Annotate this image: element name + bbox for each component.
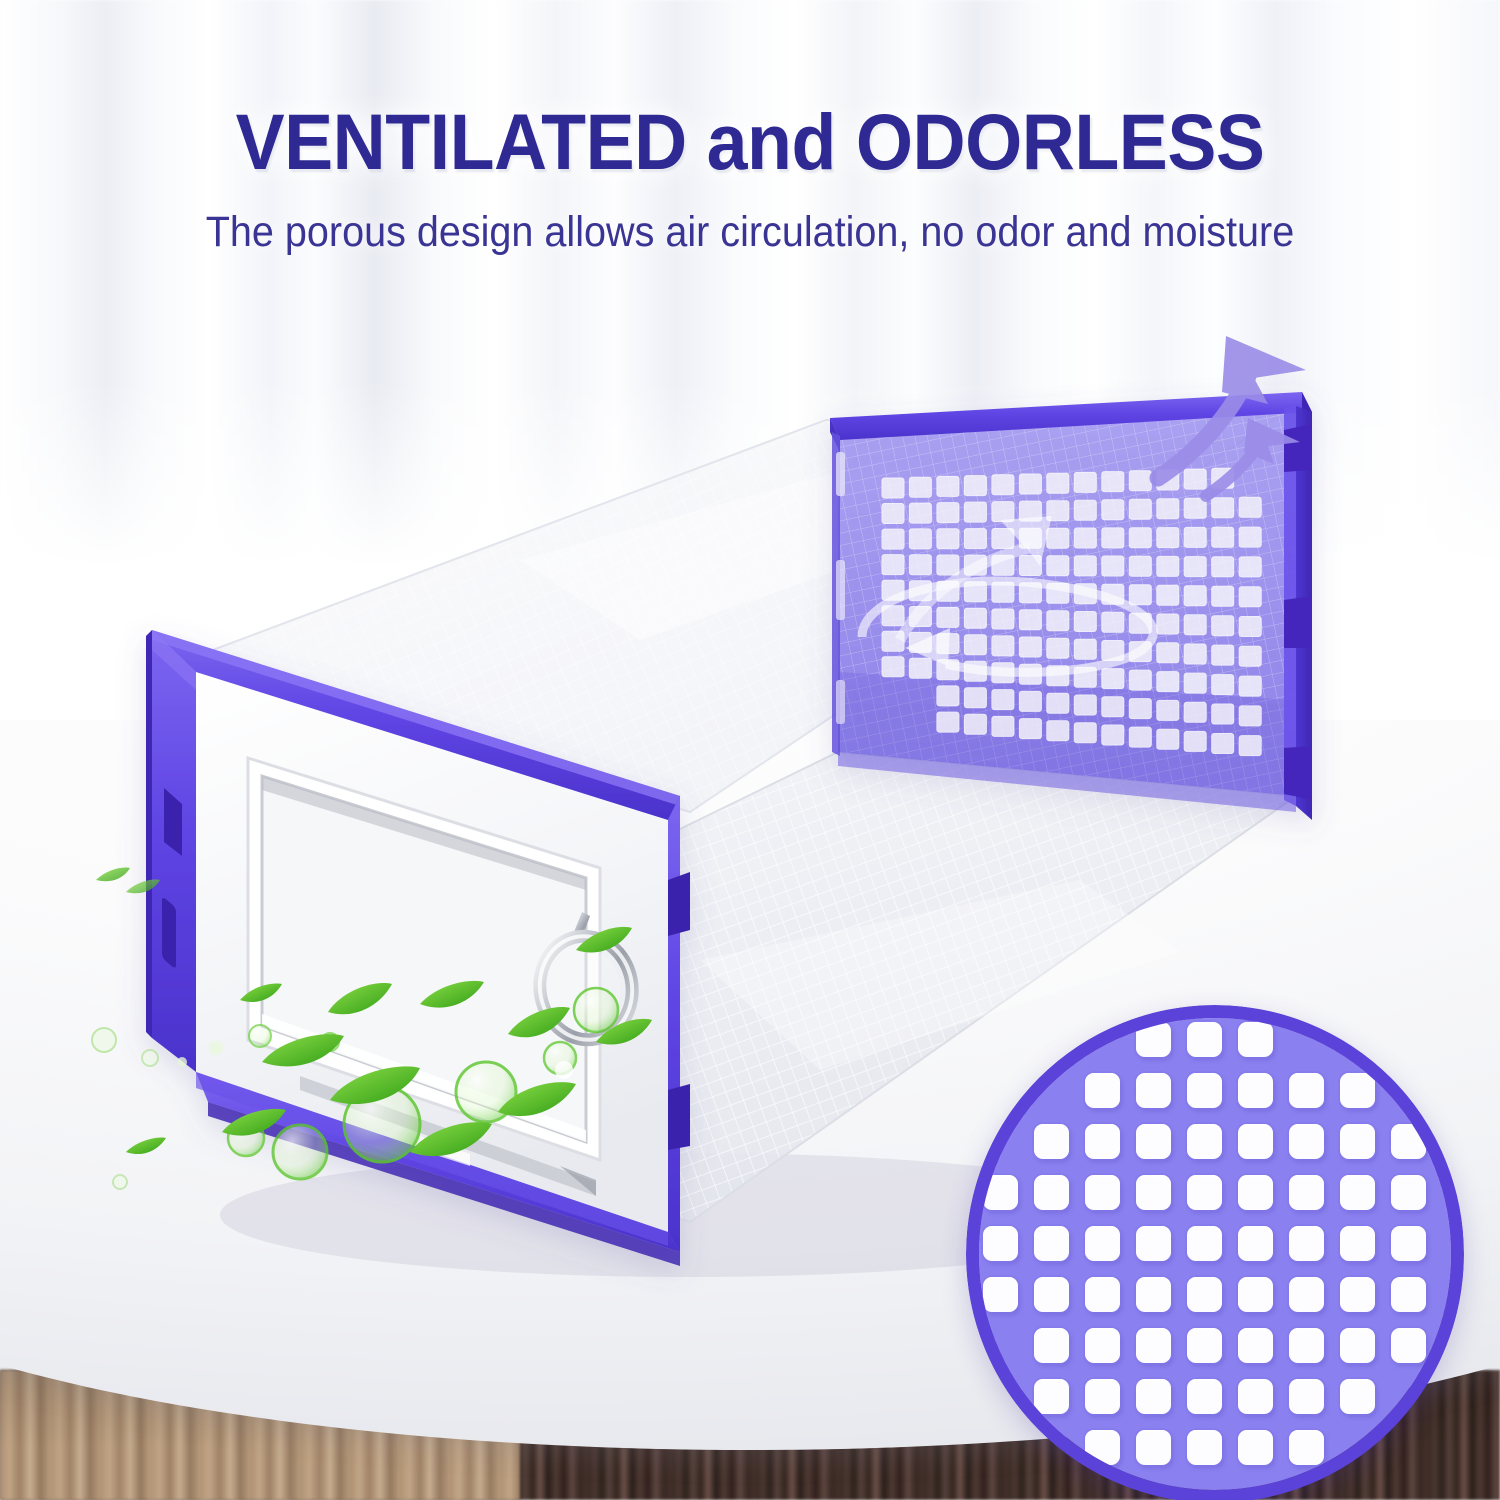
mesh-hole	[1085, 1124, 1120, 1159]
mesh-hole	[1289, 1226, 1324, 1261]
mesh-hole	[1085, 1277, 1120, 1312]
vent-hole	[1212, 645, 1234, 665]
vent-hole	[992, 502, 1014, 522]
vent-hole	[882, 657, 904, 677]
mesh-hole	[1391, 1175, 1426, 1210]
vent-hole	[1212, 498, 1234, 518]
mesh-close-up-callout	[966, 1005, 1464, 1500]
vent-hole	[1047, 528, 1069, 548]
vent-hole	[1074, 695, 1096, 715]
vent-hole	[1047, 693, 1069, 713]
vent-hole	[1239, 646, 1261, 666]
vent-hole	[1102, 725, 1124, 745]
vent-hole	[1074, 639, 1096, 659]
vent-hole	[1184, 673, 1206, 693]
vent-hole	[1157, 700, 1179, 720]
mesh-hole	[1238, 1022, 1273, 1057]
mesh-hole	[1391, 1328, 1426, 1363]
mesh-hole	[1085, 1430, 1120, 1465]
vent-hole	[1019, 474, 1041, 494]
vent-hole	[1184, 586, 1206, 606]
mesh-hole	[1034, 1124, 1069, 1159]
vent-hole	[1129, 670, 1151, 690]
mesh-hole	[1340, 1073, 1375, 1108]
vent-hole	[1047, 473, 1069, 493]
vent-hole	[992, 716, 1014, 736]
mesh-hole	[1085, 1226, 1120, 1261]
vent-hole	[1129, 727, 1151, 747]
vent-hole	[937, 686, 959, 706]
vent-hole	[909, 477, 931, 497]
vent-hole	[1212, 616, 1234, 636]
vent-hole	[1074, 556, 1096, 576]
mesh-hole	[1034, 1226, 1069, 1261]
vent-hole	[937, 529, 959, 549]
mesh-hole	[1187, 1277, 1222, 1312]
mesh-hole	[1238, 1073, 1273, 1108]
vent-hole	[1184, 498, 1206, 518]
vent-hole	[1047, 611, 1069, 631]
vent-hole	[937, 607, 959, 627]
mesh-hole	[1136, 1226, 1171, 1261]
vent-hole	[1102, 612, 1124, 632]
page-title: VENTILATED and ODORLESS	[53, 96, 1448, 188]
vent-hole	[1047, 556, 1069, 576]
mesh-hole	[1238, 1430, 1273, 1465]
vent-hole	[1129, 528, 1151, 548]
vent-hole	[1074, 472, 1096, 492]
mesh-hole	[1340, 1379, 1375, 1414]
vent-hole	[1184, 615, 1206, 635]
vent-hole	[1157, 729, 1179, 749]
vent-hole	[992, 636, 1014, 656]
mesh-hole	[1085, 1328, 1120, 1363]
mesh-hole	[1187, 1175, 1222, 1210]
vent-hole	[909, 503, 931, 523]
vent-hole	[1184, 731, 1206, 751]
vent-hole	[964, 502, 986, 522]
vent-hole	[1184, 469, 1206, 489]
vent-hole	[1212, 734, 1234, 754]
vent-hole	[1212, 675, 1234, 695]
vent-hole	[964, 688, 986, 708]
mesh-hole	[1238, 1277, 1273, 1312]
mesh-hole	[1136, 1022, 1171, 1057]
page-subtitle: The porous design allows air circulation…	[60, 208, 1440, 257]
mesh-hole	[1238, 1124, 1273, 1159]
mesh-hole	[1391, 1124, 1426, 1159]
mesh-hole	[1289, 1379, 1324, 1414]
vent-hole	[1157, 643, 1179, 663]
vent-hole	[882, 504, 904, 524]
mesh-plate	[979, 1018, 1451, 1490]
mesh-hole	[1136, 1328, 1171, 1363]
mesh-hole	[1289, 1328, 1324, 1363]
vent-hole	[1102, 697, 1124, 717]
mesh-hole	[1289, 1430, 1324, 1465]
mesh-hole	[1391, 1277, 1426, 1312]
mesh-hole	[1136, 1277, 1171, 1312]
mesh-hole	[1034, 1277, 1069, 1312]
mesh-hole	[1238, 1226, 1273, 1261]
vent-hole	[1019, 637, 1041, 657]
mesh-hole	[1085, 1379, 1120, 1414]
vent-hole	[1102, 669, 1124, 689]
mesh-hole	[1136, 1430, 1171, 1465]
vent-hole	[1102, 528, 1124, 548]
vent-hole	[964, 714, 986, 734]
vent-hole	[1239, 557, 1261, 577]
mesh-hole	[983, 1175, 1018, 1210]
mesh-hole	[1238, 1175, 1273, 1210]
vent-hole	[1239, 617, 1261, 637]
vent-hole	[1019, 691, 1041, 711]
mesh-hole	[1187, 1226, 1222, 1261]
vent-hole	[1102, 500, 1124, 520]
vent-hole	[1129, 471, 1151, 491]
vent-hole	[964, 529, 986, 549]
mesh-hole	[1340, 1124, 1375, 1159]
vent-hole	[964, 476, 986, 496]
vent-hole	[1239, 736, 1261, 756]
vent-hole	[1184, 527, 1206, 547]
vent-hole	[1157, 556, 1179, 576]
vent-hole	[1047, 638, 1069, 658]
mesh-hole	[1136, 1379, 1171, 1414]
mesh-hole	[1034, 1175, 1069, 1210]
vent-hole	[882, 529, 904, 549]
vent-hole	[1019, 610, 1041, 630]
vent-hole	[1102, 556, 1124, 576]
mesh-hole	[1187, 1430, 1222, 1465]
mesh-hole	[1289, 1175, 1324, 1210]
vent-hole	[1157, 528, 1179, 548]
mesh-hole	[1289, 1277, 1324, 1312]
vent-hole	[1129, 585, 1151, 605]
vent-hole	[1212, 586, 1234, 606]
mesh-hole	[983, 1226, 1018, 1261]
mesh-hole	[1136, 1124, 1171, 1159]
vent-hole	[1212, 704, 1234, 724]
mesh-hole	[983, 1277, 1018, 1312]
vent-hole	[909, 555, 931, 575]
vent-hole	[1129, 556, 1151, 576]
mesh-hole	[1238, 1379, 1273, 1414]
vent-hole	[937, 555, 959, 575]
vent-hole	[1184, 702, 1206, 722]
mesh-hole	[1187, 1124, 1222, 1159]
vent-hole	[937, 503, 959, 523]
rear-vented-panel	[830, 392, 1312, 820]
mesh-hole	[1289, 1073, 1324, 1108]
vent-hole	[1157, 614, 1179, 634]
product-infographic: VENTILATED and ODORLESS The porous desig…	[0, 0, 1500, 1500]
vent-hole	[964, 635, 986, 655]
vent-hole	[992, 475, 1014, 495]
mesh-hole	[1034, 1328, 1069, 1363]
vent-hole	[992, 690, 1014, 710]
mesh-hole	[1187, 1073, 1222, 1108]
mesh-hole	[1187, 1379, 1222, 1414]
vent-hole	[1239, 706, 1261, 726]
vent-hole	[937, 476, 959, 496]
vent-hole	[909, 529, 931, 549]
mesh-hole	[1187, 1022, 1222, 1057]
vent-hole	[937, 712, 959, 732]
vent-hole	[1129, 499, 1151, 519]
vent-hole	[1074, 723, 1096, 743]
vent-hole	[992, 529, 1014, 549]
mesh-hole	[1391, 1226, 1426, 1261]
vent-hole	[1239, 527, 1261, 547]
vent-hole	[1157, 672, 1179, 692]
vent-hole	[1074, 500, 1096, 520]
mesh-hole	[1340, 1226, 1375, 1261]
vent-hole	[964, 608, 986, 628]
mesh-hole	[1340, 1175, 1375, 1210]
mesh-hole	[1034, 1379, 1069, 1414]
vent-hole	[1157, 499, 1179, 519]
mesh-hole	[1238, 1328, 1273, 1363]
mesh-hole	[1136, 1175, 1171, 1210]
vent-hole	[1157, 585, 1179, 605]
mesh-hole	[1085, 1073, 1120, 1108]
mesh-hole	[1289, 1124, 1324, 1159]
vent-hole	[1102, 472, 1124, 492]
mesh-hole	[1085, 1175, 1120, 1210]
vent-hole	[1019, 719, 1041, 739]
vent-hole	[1184, 644, 1206, 664]
vent-hole	[1184, 557, 1206, 577]
mesh-hole	[1340, 1328, 1375, 1363]
vent-hole	[882, 478, 904, 498]
mesh-hole	[1136, 1073, 1171, 1108]
mesh-hole	[1340, 1277, 1375, 1312]
vent-hole	[1239, 497, 1261, 517]
vent-hole	[882, 555, 904, 575]
vent-hole	[1074, 612, 1096, 632]
vent-hole	[1074, 528, 1096, 548]
vent-hole	[1212, 557, 1234, 577]
vent-hole	[1047, 721, 1069, 741]
vent-hole	[909, 658, 931, 678]
vent-hole	[1239, 587, 1261, 607]
vent-hole	[992, 609, 1014, 629]
vent-hole	[1212, 527, 1234, 547]
vent-hole	[1239, 676, 1261, 696]
vent-hole	[1129, 699, 1151, 719]
mesh-hole	[1187, 1328, 1222, 1363]
